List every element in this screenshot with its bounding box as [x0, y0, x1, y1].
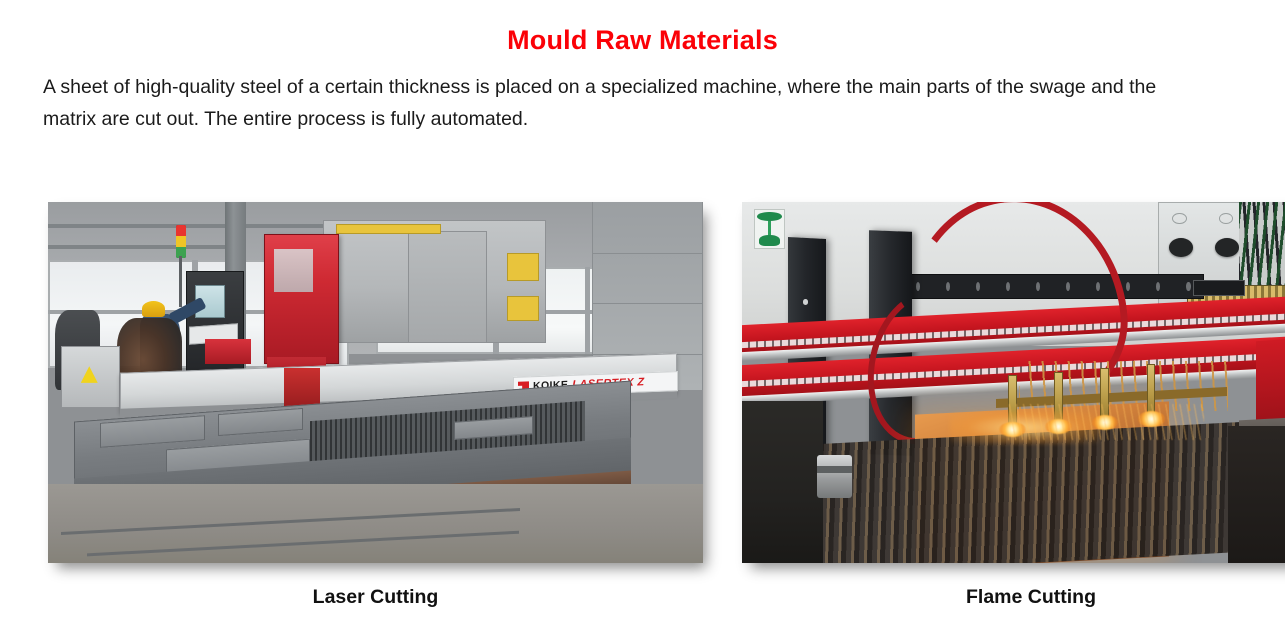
machine-cabinet-2 [408, 231, 487, 343]
panel-knob-1[interactable] [1169, 238, 1193, 257]
figure-flame-cutting: Flame Cutting [742, 202, 1285, 609]
worker-hard-hat [142, 301, 166, 317]
yellow-label-panel-2 [507, 296, 540, 321]
wall-seam-2 [592, 303, 703, 304]
gas-cylinder [817, 455, 852, 498]
tower-access-panel [274, 249, 313, 292]
console-red-housing [205, 339, 251, 364]
machine-nameplate [1193, 280, 1245, 296]
window-mullion-v3 [585, 267, 590, 354]
stack-light-pole [179, 256, 182, 307]
spark-trails [1008, 404, 1205, 440]
page-title: Mould Raw Materials [0, 0, 1285, 54]
wall-seam-1 [592, 253, 703, 254]
intro-paragraph: A sheet of high-quality steel of a certa… [0, 54, 1285, 135]
figure-laser-cutting: KOIKE LASERTEX Z Laser Cutting [48, 202, 703, 609]
caption-flame-cutting: Flame Cutting [742, 586, 1285, 609]
cable-harness [1239, 202, 1285, 296]
green-safety-sign-icon [754, 209, 786, 249]
yellow-label-panel [507, 253, 540, 282]
flame-cutting-photo[interactable] [742, 202, 1285, 563]
panel-knob-2[interactable] [1215, 238, 1239, 257]
yellow-warning-strip [336, 224, 441, 235]
dark-foreground-mass [742, 401, 823, 563]
ceiling-beam-2 [48, 245, 245, 249]
laser-cutting-photo[interactable]: KOIKE LASERTEX Z [48, 202, 703, 563]
dark-machine-side [1228, 426, 1285, 563]
caption-laser-cutting: Laser Cutting [48, 586, 703, 609]
figure-row: KOIKE LASERTEX Z Laser Cutting [0, 186, 1285, 606]
gas-cylinder-band [817, 466, 852, 473]
stack-light-icon [176, 225, 186, 257]
